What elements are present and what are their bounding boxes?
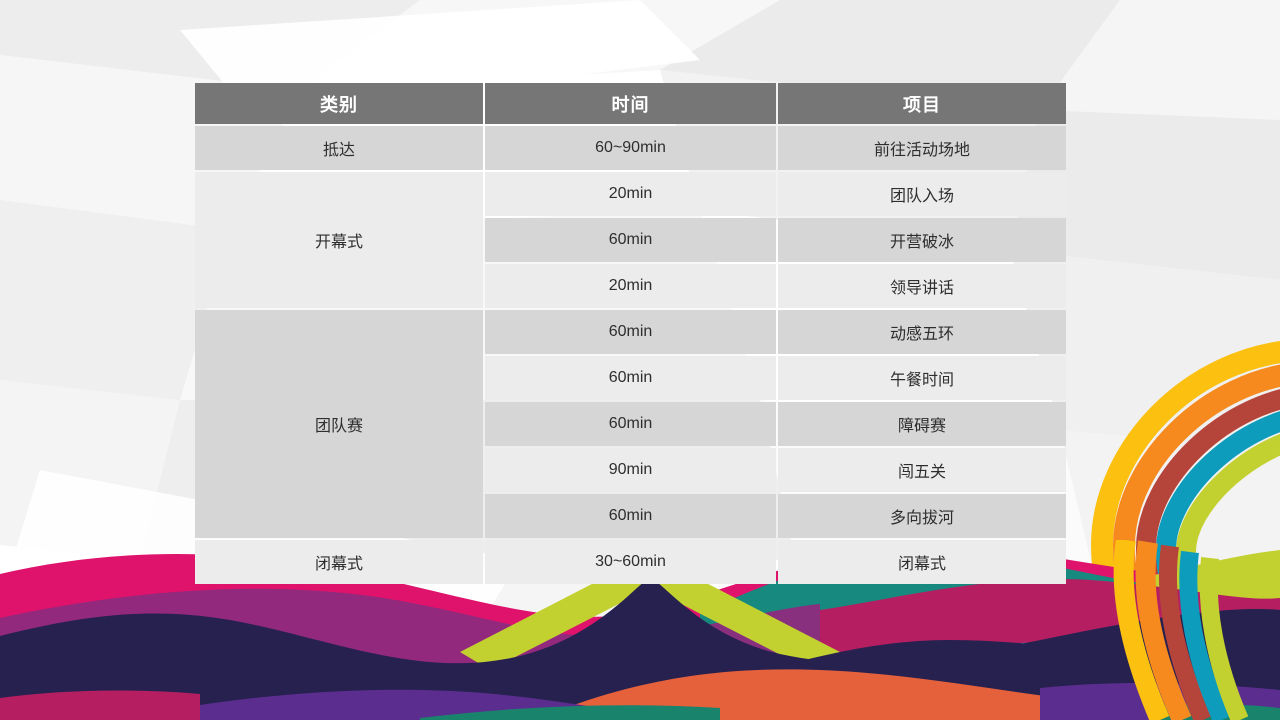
cell-item: 领导讲话: [778, 264, 1066, 308]
cell-item: 障碍赛: [778, 402, 1066, 446]
cell-category: 开幕式: [195, 172, 483, 308]
cell-time: 60min: [485, 310, 776, 354]
table-row: 团队赛60min动感五环: [195, 310, 1066, 354]
cell-item: 前往活动场地: [778, 126, 1066, 170]
cell-category: 抵达: [195, 126, 483, 170]
cell-time: 60min: [485, 356, 776, 400]
column-header-time: 时间: [485, 83, 776, 124]
table-row: 抵达60~90min前往活动场地: [195, 126, 1066, 170]
cell-item: 团队入场: [778, 172, 1066, 216]
cell-time: 20min: [485, 264, 776, 308]
table-row: 开幕式20min团队入场: [195, 172, 1066, 216]
column-header-item: 项目: [778, 83, 1066, 124]
cell-item: 动感五环: [778, 310, 1066, 354]
cell-category: 团队赛: [195, 310, 483, 538]
header-row: 类别 时间 项目: [195, 83, 1066, 124]
table-row: 闭幕式30~60min闭幕式: [195, 540, 1066, 584]
table-body: 抵达60~90min前往活动场地开幕式20min团队入场60min开营破冰20m…: [195, 126, 1066, 584]
schedule-table: 类别 时间 项目 抵达60~90min前往活动场地开幕式20min团队入场60m…: [193, 81, 1068, 586]
cell-time: 60~90min: [485, 126, 776, 170]
cell-category: 闭幕式: [195, 540, 483, 584]
column-header-category: 类别: [195, 83, 483, 124]
cell-time: 30~60min: [485, 540, 776, 584]
cell-item: 闭幕式: [778, 540, 1066, 584]
slide-canvas: 类别 时间 项目 抵达60~90min前往活动场地开幕式20min团队入场60m…: [0, 0, 1280, 720]
cell-time: 60min: [485, 402, 776, 446]
cell-time: 90min: [485, 448, 776, 492]
cell-item: 午餐时间: [778, 356, 1066, 400]
cell-item: 开营破冰: [778, 218, 1066, 262]
cell-item: 多向拔河: [778, 494, 1066, 538]
cell-item: 闯五关: [778, 448, 1066, 492]
table-header: 类别 时间 项目: [195, 83, 1066, 124]
schedule-table-container: 类别 时间 项目 抵达60~90min前往活动场地开幕式20min团队入场60m…: [193, 81, 1062, 586]
cell-time: 20min: [485, 172, 776, 216]
cell-time: 60min: [485, 494, 776, 538]
cell-time: 60min: [485, 218, 776, 262]
